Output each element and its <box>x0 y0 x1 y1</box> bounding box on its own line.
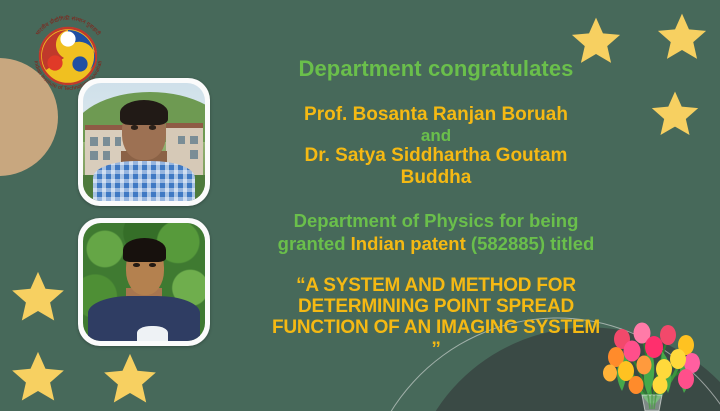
star-icon <box>654 10 710 64</box>
department-patent-line: Department of Physics for being granted … <box>212 210 660 254</box>
bottom-white-strip <box>0 411 720 420</box>
honoree-names: Prof. Bosanta Ranjan Boruah and Dr. Saty… <box>212 104 660 188</box>
department-line-part1: Department of Physics for being <box>212 210 660 232</box>
patent-title: “A SYSTEM AND METHOD FOR DETERMINING POI… <box>212 275 660 360</box>
photo-image <box>83 223 205 341</box>
patent-title-line-1: “A SYSTEM AND METHOD FOR <box>212 275 660 296</box>
star-icon <box>100 350 160 408</box>
congratulations-poster: भारतीय प्रौद्योगिकी संस्थान गुवाहाटी Ind… <box>0 0 720 420</box>
star-icon <box>8 268 68 326</box>
photo-bosanta-ranjan-boruah <box>78 78 210 206</box>
headline: Department congratulates <box>212 56 660 82</box>
photo-satya-siddhartha-goutam-buddha <box>78 218 210 346</box>
patent-title-line-2: DETERMINING POINT SPREAD <box>212 296 660 317</box>
honoree-name-first: Prof. Bosanta Ranjan Boruah <box>212 104 660 126</box>
patent-title-line-3: FUNCTION OF AN IMAGING SYSTEM <box>212 317 660 338</box>
indian-patent-highlight: Indian patent <box>351 233 466 254</box>
photo-image <box>83 83 205 201</box>
honoree-name-second-wrap: Buddha <box>212 167 660 189</box>
poster-text-block: Department congratulates Prof. Bosanta R… <box>212 56 660 360</box>
patent-title-closing-quote: ” <box>212 339 660 360</box>
honoree-name-second: Dr. Satya Siddhartha Goutam <box>212 145 660 167</box>
honoree-conjunction: and <box>212 126 660 145</box>
department-line-part2: granted Indian patent (582885) titled <box>212 233 660 255</box>
patent-number-suffix: (582885) titled <box>466 233 595 254</box>
granted-prefix: granted <box>278 233 351 254</box>
star-icon <box>8 348 68 406</box>
